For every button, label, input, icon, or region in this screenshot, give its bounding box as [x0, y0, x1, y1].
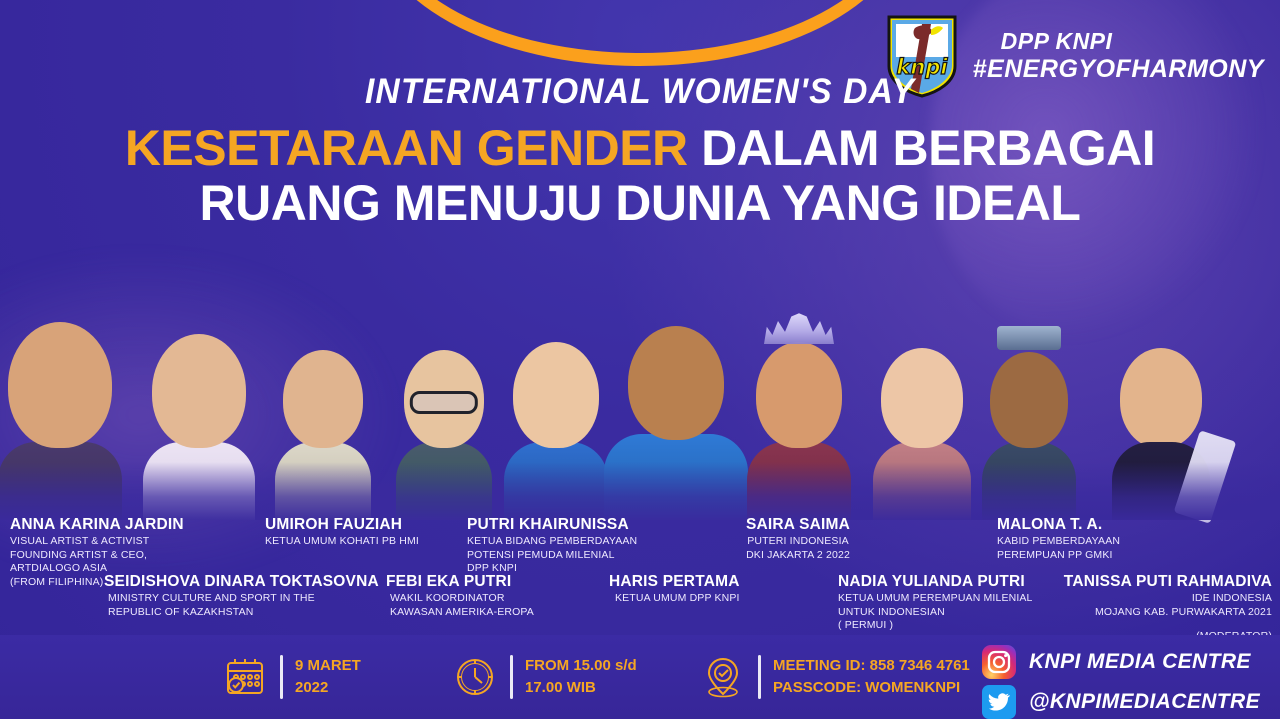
speaker-name: TANISSA PUTI RAHMADIVA — [1010, 573, 1272, 590]
footer-date-block: 9 MARET 2022 — [222, 649, 361, 705]
speaker-name: ANNA KARINA JARDIN — [10, 516, 184, 533]
speaker-name-list: ANNA KARINA JARDIN VISUAL ARTIST & ACTIV… — [0, 505, 1280, 645]
speaker-role: IDE INDONESIA MOJANG KAB. PURWAKARTA 202… — [1010, 592, 1272, 619]
instagram-icon[interactable] — [982, 645, 1016, 679]
crown-icon — [764, 312, 834, 344]
speaker-caption-haris-pertama: HARIS PERTAMA KETUA UMUM DPP KNPI — [609, 573, 740, 606]
meeting-id: MEETING ID: 858 7346 4761 — [773, 657, 970, 674]
footer-meeting-text: MEETING ID: 858 7346 4761 PASSCODE: WOME… — [773, 655, 970, 699]
speaker-caption-putri-khairunissa: PUTRI KHAIRUNISSA KETUA BIDANG PEMBERDAY… — [467, 516, 637, 576]
speaker-role: KETUA BIDANG PEMBERDAYAAN POTENSI PEMUDA… — [467, 535, 637, 575]
footer-date-text: 9 MARET 2022 — [295, 655, 361, 699]
headline-highlight: KESETARAAN GENDER — [125, 120, 688, 176]
social-instagram[interactable]: KNPI MEDIA CENTRE — [982, 645, 1260, 679]
meeting-passcode: PASSCODE: WOMENKNPI — [773, 679, 960, 696]
divider — [758, 655, 761, 699]
headline-line-2: RUANG MENUJU DUNIA YANG IDEAL — [0, 177, 1280, 230]
date-line-2: 2022 — [295, 679, 328, 696]
speaker-role: KABID PEMBERDAYAAN PEREMPUAN PP GMKI — [997, 535, 1120, 562]
time-line-1: FROM 15.00 s/d — [525, 657, 637, 674]
footer-info-bar: 9 MARET 2022 FROM 15.00 s/d 17.00 WIB — [0, 635, 1280, 719]
headline-rest: DALAM BERBAGAI — [688, 120, 1155, 176]
footer-time-text: FROM 15.00 s/d 17.00 WIB — [525, 655, 637, 699]
brand-line-1: DPP KNPI — [973, 29, 1264, 55]
footer-time-block: FROM 15.00 s/d 17.00 WIB — [452, 649, 637, 705]
speaker-role: KETUA UMUM DPP KNPI — [609, 592, 740, 605]
speaker-role: PUTERI INDONESIA DKI JAKARTA 2 2022 — [713, 535, 883, 562]
event-headline: KESETARAAN GENDER DALAM BERBAGAI RUANG M… — [0, 122, 1280, 230]
speaker-name: SAIRA SAIMA — [713, 516, 883, 533]
speaker-caption-umiroh-fauziah: UMIROH FAUZIAH KETUA UMUM KOHATI PB HMI — [265, 516, 419, 549]
speaker-name: NADIA YULIANDA PUTRI — [838, 573, 1033, 590]
event-kicker: INTERNATIONAL WOMEN'S DAY — [26, 72, 1255, 112]
calendar-icon — [222, 654, 268, 700]
date-line-1: 9 MARET — [295, 657, 361, 674]
orange-arc — [371, 0, 909, 66]
speaker-caption-nadia-yulianda-putri: NADIA YULIANDA PUTRI KETUA UMUM PEREMPUA… — [838, 573, 1033, 633]
speaker-name: PUTRI KHAIRUNISSA — [467, 516, 637, 533]
speaker-name: MALONA T. A. — [997, 516, 1120, 533]
instagram-handle[interactable]: KNPI MEDIA CENTRE — [1029, 650, 1251, 674]
social-twitter[interactable]: @KNPIMEDIACENTRE — [982, 685, 1260, 719]
footer-social-block: KNPI MEDIA CENTRE @KNPIMEDIACENTRE — [982, 645, 1260, 719]
speaker-role: KETUA UMUM KOHATI PB HMI — [265, 535, 419, 548]
speaker-caption-febi-eka-putri: FEBI EKA PUTRI WAKIL KOORDINATOR KAWASAN… — [386, 573, 534, 619]
twitter-handle[interactable]: @KNPIMEDIACENTRE — [1029, 690, 1260, 714]
time-line-2: 17.00 WIB — [525, 679, 596, 696]
speaker-name: HARIS PERTAMA — [609, 573, 740, 590]
speaker-role: WAKIL KOORDINATOR KAWASAN AMERIKA-EROPA — [386, 592, 534, 619]
speaker-caption-seidishova-dinara-toktasovna: SEIDISHOVA DINARA TOKTASOVNA MINISTRY CU… — [104, 573, 379, 619]
speaker-caption-saira-saima: SAIRA SAIMA PUTERI INDONESIA DKI JAKARTA… — [713, 516, 883, 562]
location-check-pin-icon — [700, 654, 746, 700]
glasses-icon — [410, 391, 478, 414]
speaker-name: UMIROH FAUZIAH — [265, 516, 419, 533]
poster-canvas: knpi DPP KNPI #ENERGYOFHARMONY INTERNATI… — [0, 0, 1280, 719]
graduation-cap-icon — [997, 326, 1061, 350]
speaker-name: SEIDISHOVA DINARA TOKTASOVNA — [104, 573, 379, 590]
twitter-icon[interactable] — [982, 685, 1016, 719]
divider — [280, 655, 283, 699]
speaker-photo-strip — [0, 288, 1280, 520]
speaker-role: MINISTRY CULTURE AND SPORT IN THE REPUBL… — [104, 592, 379, 619]
clock-icon — [452, 654, 498, 700]
divider — [510, 655, 513, 699]
speaker-caption-tanissa-puti-rahmadiva: TANISSA PUTI RAHMADIVA IDE INDONESIA MOJ… — [1010, 573, 1272, 644]
speaker-caption-malona-t-a: MALONA T. A. KABID PEMBERDAYAAN PEREMPUA… — [997, 516, 1120, 562]
footer-meeting-block: MEETING ID: 858 7346 4761 PASSCODE: WOME… — [700, 649, 970, 705]
speaker-role: KETUA UMUM PEREMPUAN MILENIAL UNTUK INDO… — [838, 592, 1033, 632]
